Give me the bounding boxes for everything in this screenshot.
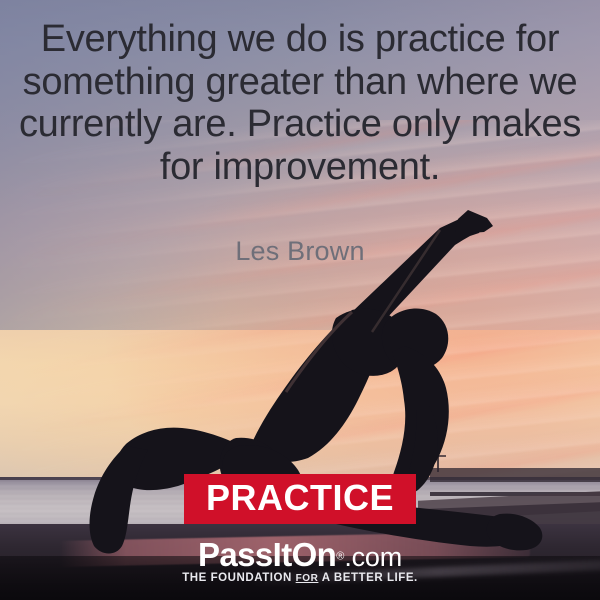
logo-wordmark: PassItOn [198,536,336,573]
quote-attribution: Les Brown [0,236,600,267]
logo-tagline: THE FOUNDATION FOR A BETTER LIFE. [0,572,600,584]
tagline-prefix: THE FOUNDATION [182,572,295,584]
passiton-logo[interactable]: PassItOn®.com [0,538,600,571]
quote-text: Everything we do is practice for somethi… [0,18,600,188]
tagline-for: FOR [296,573,319,584]
keyword-badge: PRACTICE [184,474,416,524]
quote-card: Everything we do is practice for somethi… [0,0,600,600]
tagline-suffix: A BETTER LIFE. [318,572,417,584]
logo-tld: .com [344,542,402,572]
